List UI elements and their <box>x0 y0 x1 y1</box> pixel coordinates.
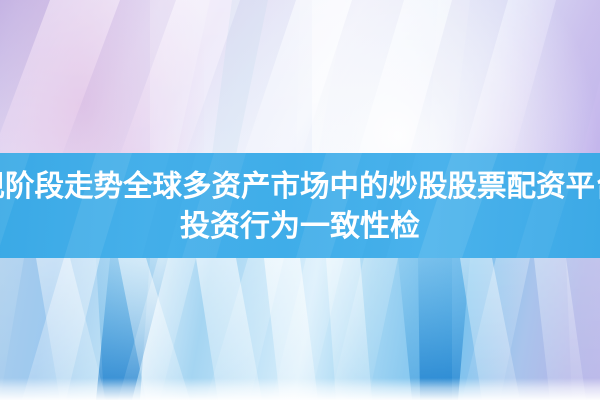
bottom-white-fade <box>0 378 600 400</box>
lower-pattern-panel <box>0 258 600 400</box>
banner-title-line-1: 现阶段走势全球多资产市场中的炒股股票配资平台 <box>0 167 600 207</box>
banner-image: 现阶段走势全球多资产市场中的炒股股票配资平台 投资行为一致性检 <box>0 0 600 400</box>
title-band: 现阶段走势全球多资产市场中的炒股股票配资平台 投资行为一致性检 <box>0 153 600 258</box>
banner-title: 现阶段走势全球多资产市场中的炒股股票配资平台 投资行为一致性检 <box>0 153 600 258</box>
banner-title-line-2: 投资行为一致性检 <box>180 207 420 247</box>
